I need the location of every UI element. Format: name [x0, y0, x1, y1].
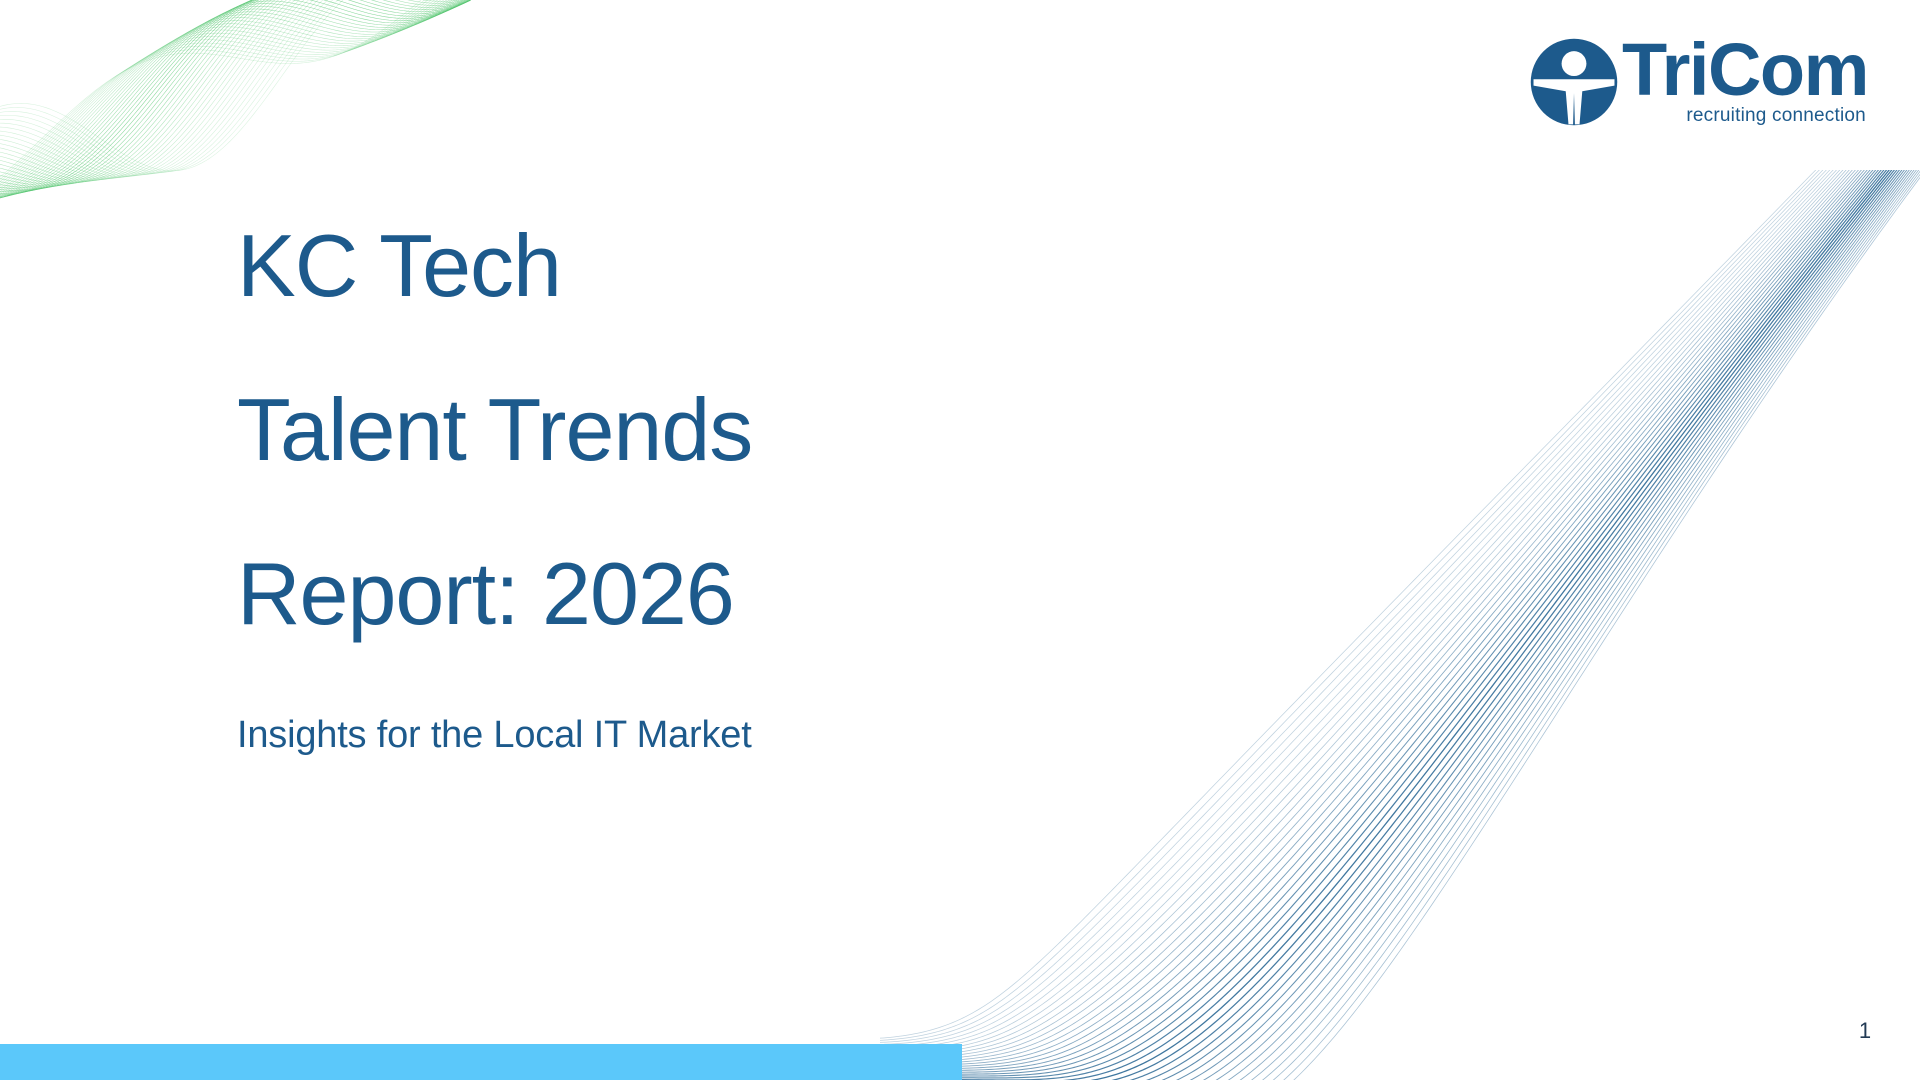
page-number: 1	[1845, 1018, 1885, 1044]
subtitle: Insights for the Local IT Market	[237, 714, 997, 757]
title-block: KC Tech Talent Trends Report: 2026 Insig…	[237, 222, 997, 757]
title-line-3: Report: 2026	[237, 550, 997, 638]
footer-accent-bar	[0, 1044, 962, 1080]
logo-name: TriCom	[1622, 37, 1868, 102]
title-line-1: KC Tech	[237, 222, 997, 310]
tricom-logo: TriCom recruiting connection	[1528, 28, 1888, 136]
title-slide: TriCom recruiting connection KC Tech Tal…	[0, 0, 1920, 1080]
person-in-circle-icon	[1528, 36, 1620, 128]
blue-wave-graphic	[880, 170, 1920, 1080]
logo-tagline: recruiting connection	[1686, 105, 1866, 127]
logo-wordmark: TriCom recruiting connection	[1622, 37, 1868, 126]
title-line-2: Talent Trends	[237, 386, 997, 474]
